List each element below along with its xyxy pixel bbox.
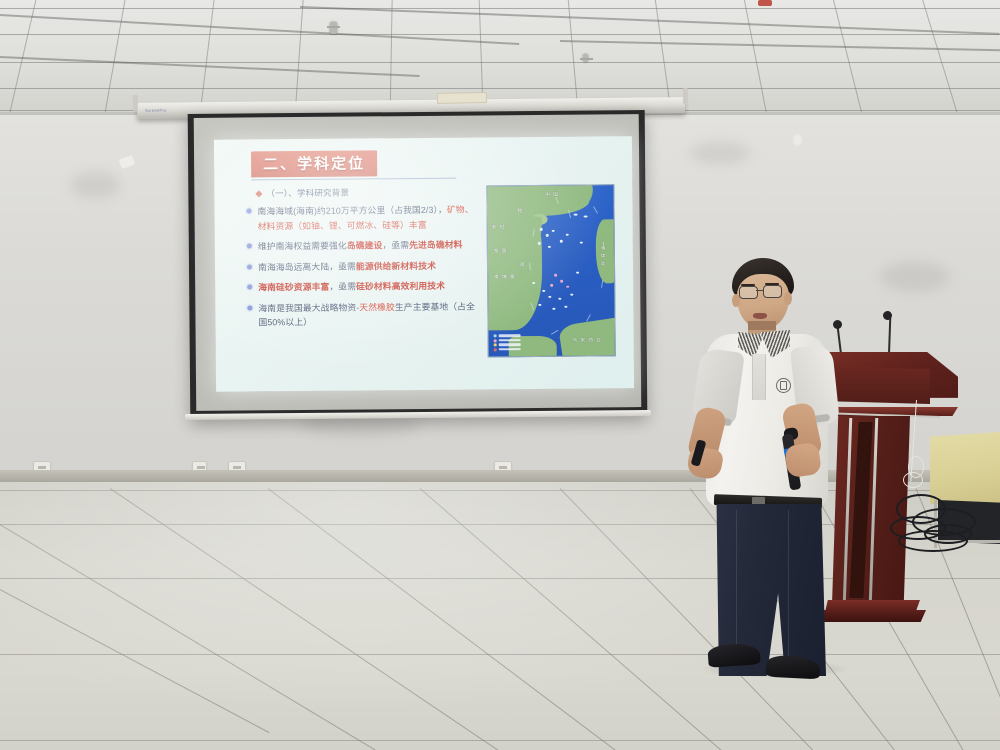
- map-label: 南: [520, 262, 526, 268]
- housing-sticker: [437, 92, 487, 104]
- ear: [784, 292, 792, 305]
- projected-slide: 二、学科定位 （一）、学科研究背景 南海海域(海南)约210万平方公里（占我国2…: [214, 136, 634, 392]
- slide-bullet-list: （一）、学科研究背景 南海海域(海南)约210万平方公里（占我国2/3），矿物、…: [246, 185, 479, 336]
- bullet-seg-highlight: 海南硅砂资源丰富: [258, 282, 329, 293]
- south-china-sea-map: 中 国 越 南 泰 国 柬 埔 寨 老 挝 菲 律 宾 马 来 西 亚: [486, 184, 615, 357]
- table-cloth: [930, 432, 1000, 510]
- slide-subheading-row: （一）、学科研究背景: [256, 185, 478, 199]
- bullet-item: 南海海岛远离大陆，亟需能源供给新材料技术: [247, 258, 479, 275]
- shirt-logo: [776, 378, 791, 393]
- title-underline: [251, 178, 456, 181]
- dot-bullet-icon: [247, 208, 252, 213]
- bullet-seg: ，亟需: [382, 240, 409, 250]
- dot-bullet-icon: [247, 264, 252, 269]
- bullet-text: 南海海域(海南)约210万平方公里（占我国2/3），矿物、材料资源（如铀、锂、可…: [257, 202, 478, 233]
- bullet-seg: 维护南海权益需要强化: [258, 241, 347, 252]
- glasses-bridge: [756, 290, 764, 291]
- bullet-item: 南海海域(海南)约210万平方公里（占我国2/3），矿物、材料资源（如铀、锂、可…: [246, 202, 478, 233]
- bullet-seg-highlight: 先进岛礁材料: [409, 240, 462, 250]
- bullet-text: 南海海岛远离大陆，亟需能源供给新材料技术: [258, 258, 436, 274]
- wire-loop: [903, 472, 923, 488]
- sprinkler-head: [583, 54, 588, 62]
- bullet-text: 海南是我国最大战略物资-天然橡胶生产主要基地（占全国50%以上）: [258, 299, 479, 330]
- glasses-lens: [763, 285, 782, 298]
- bullet-seg: 南海海域(海南)约210万平方公里（占我国2/3），: [257, 205, 446, 217]
- map-label: 柬 埔 寨: [494, 274, 515, 280]
- mouth: [753, 313, 767, 319]
- bullet-seg-highlight: 天然橡胶: [359, 302, 395, 312]
- shirt-placket: [752, 354, 766, 400]
- bullet-text: 维护南海权益需要强化岛礁建设，亟需先进岛礁材料: [258, 238, 463, 254]
- map-label: 老 挝: [492, 224, 506, 230]
- map-label: 菲 律 宾: [600, 245, 606, 266]
- screen-surface: 二、学科定位 （一）、学科研究背景 南海海域(海南)约210万平方公里（占我国2…: [194, 114, 642, 411]
- bullet-item: 维护南海权益需要强化岛礁建设，亟需先进岛礁材料: [247, 237, 479, 254]
- trouser-crease: [736, 510, 737, 660]
- slide-title-banner: 二、学科定位: [251, 150, 377, 177]
- slide-title: 二、学科定位: [263, 155, 365, 173]
- podium-microphone-head[interactable]: [883, 311, 892, 320]
- dot-bullet-icon: [247, 243, 252, 248]
- floor-cable-loop: [898, 530, 968, 552]
- bullet-seg-highlight: 硅砂材料高效利用技术: [356, 281, 445, 292]
- bullet-item: 海南是我国最大战略物资-天然橡胶生产主要基地（占全国50%以上）: [247, 299, 479, 330]
- bullet-item: 海南硅砂资源丰富，亟需硅砂材料高效利用技术: [247, 278, 479, 295]
- map-label: 越: [518, 208, 524, 214]
- bullet-seg-highlight: 能源供给新材料技术: [356, 260, 436, 271]
- slide-subheading: （一）、学科研究背景: [266, 187, 349, 200]
- map-label: 中 国: [545, 192, 559, 198]
- wall-nail: [795, 136, 800, 144]
- ceiling-marker: [758, 0, 772, 6]
- map-label: 马 来 西 亚: [573, 337, 602, 343]
- wall-hook: [119, 155, 136, 169]
- diamond-bullet-icon: [255, 190, 262, 197]
- map-label: 泰 国: [494, 248, 508, 254]
- screen-brand-label: ScreenPro: [145, 108, 167, 113]
- shoe-left: [707, 642, 760, 668]
- presenter: [690, 258, 880, 678]
- neck-shadow: [748, 321, 776, 330]
- bullet-seg: 南海海岛远离大陆，亟需: [258, 261, 356, 272]
- projection-screen[interactable]: 二、学科定位 （一）、学科研究背景 南海海域(海南)约210万平方公里（占我国2…: [188, 110, 648, 419]
- trouser-crease: [788, 510, 789, 660]
- bullet-seg-highlight: 岛礁建设: [347, 240, 383, 250]
- presentation-room-photo: ScreenPro 二、学科定位 （一）、学科研究背景: [0, 0, 1000, 750]
- dot-bullet-icon: [247, 305, 252, 310]
- map-legend: [494, 334, 521, 352]
- bullet-seg: ，亟需: [329, 282, 356, 292]
- bullet-text: 海南硅砂资源丰富，亟需硅砂材料高效利用技术: [258, 279, 445, 295]
- dot-bullet-icon: [247, 284, 252, 289]
- sprinkler-head: [330, 22, 337, 34]
- glasses-lens: [739, 286, 758, 299]
- bullet-seg: 海南是我国最大战略物资-: [258, 302, 359, 313]
